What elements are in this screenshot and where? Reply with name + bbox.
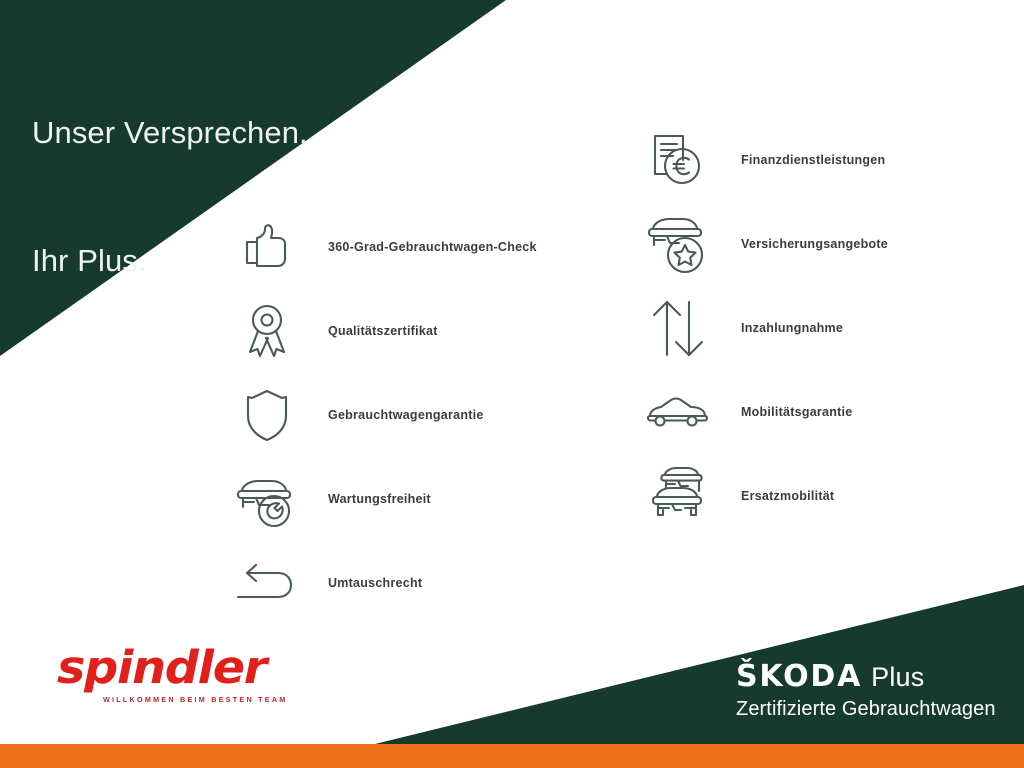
award-rosette-icon bbox=[234, 298, 300, 364]
benefit-item: Qualitätszertifikat bbox=[234, 289, 574, 373]
skoda-product-name: Plus bbox=[871, 662, 924, 692]
spindler-tagline: WILLKOMMEN BEIM BESTEN TEAM bbox=[103, 695, 309, 704]
orange-bottom-bar bbox=[0, 744, 1024, 768]
skoda-subtitle: Zertifizierte Gebrauchtwagen bbox=[736, 698, 996, 721]
car-side-icon bbox=[645, 379, 711, 445]
benefit-item: Inzahlungnahme bbox=[645, 286, 985, 370]
car-star-icon bbox=[645, 211, 711, 277]
spindler-logo: spindler WILLKOMMEN BEIM BESTEN TEAM bbox=[57, 645, 309, 704]
benefit-item: Ersatzmobilität bbox=[645, 454, 985, 538]
benefit-label: Gebrauchtwagengarantie bbox=[328, 408, 484, 422]
benefit-label: Inzahlungnahme bbox=[741, 321, 843, 335]
skoda-plus-logo: ŠKODAPlus Zertifizierte Gebrauchtwagen bbox=[736, 662, 996, 721]
benefit-label: Ersatzmobilität bbox=[741, 489, 834, 503]
benefit-label: Umtauschrecht bbox=[328, 576, 422, 590]
benefits-column-left: 360-Grad-Gebrauchtwagen-Check Qualitätsz… bbox=[234, 205, 574, 625]
skoda-logo-line-1: ŠKODAPlus bbox=[736, 662, 996, 692]
benefit-label: Versicherungsangebote bbox=[741, 237, 888, 251]
benefit-item: Gebrauchtwagengarantie bbox=[234, 373, 574, 457]
benefits-column-right: Finanzdienstleistungen Versicherungsange… bbox=[645, 118, 985, 538]
benefit-item: Wartungsfreiheit bbox=[234, 457, 574, 541]
benefit-item: Versicherungsangebote bbox=[645, 202, 985, 286]
two-cars-icon bbox=[645, 463, 711, 529]
promo-banner: Unser Versprechen. Ihr Plus. 360-Grad-Ge… bbox=[0, 0, 1024, 768]
thumbs-up-icon bbox=[234, 214, 300, 280]
benefit-item: 360-Grad-Gebrauchtwagen-Check bbox=[234, 205, 574, 289]
return-arrow-icon bbox=[234, 550, 300, 616]
skoda-brand-name: ŠKODA bbox=[736, 659, 862, 694]
shield-icon bbox=[234, 382, 300, 448]
spindler-wordmark: spindler bbox=[57, 645, 324, 690]
document-euro-icon bbox=[645, 127, 711, 193]
up-down-arrows-icon bbox=[645, 295, 711, 361]
benefit-label: Qualitätszertifikat bbox=[328, 324, 438, 338]
benefit-item: Finanzdienstleistungen bbox=[645, 118, 985, 202]
benefit-item: Umtauschrecht bbox=[234, 541, 574, 625]
benefit-label: 360-Grad-Gebrauchtwagen-Check bbox=[328, 240, 537, 254]
benefit-label: Mobilitätsgarantie bbox=[741, 405, 852, 419]
benefit-label: Finanzdienstleistungen bbox=[741, 153, 885, 167]
benefit-item: Mobilitätsgarantie bbox=[645, 370, 985, 454]
car-wrench-icon bbox=[234, 466, 300, 532]
benefit-label: Wartungsfreiheit bbox=[328, 492, 431, 506]
headline-line-1: Unser Versprechen. bbox=[32, 112, 308, 155]
